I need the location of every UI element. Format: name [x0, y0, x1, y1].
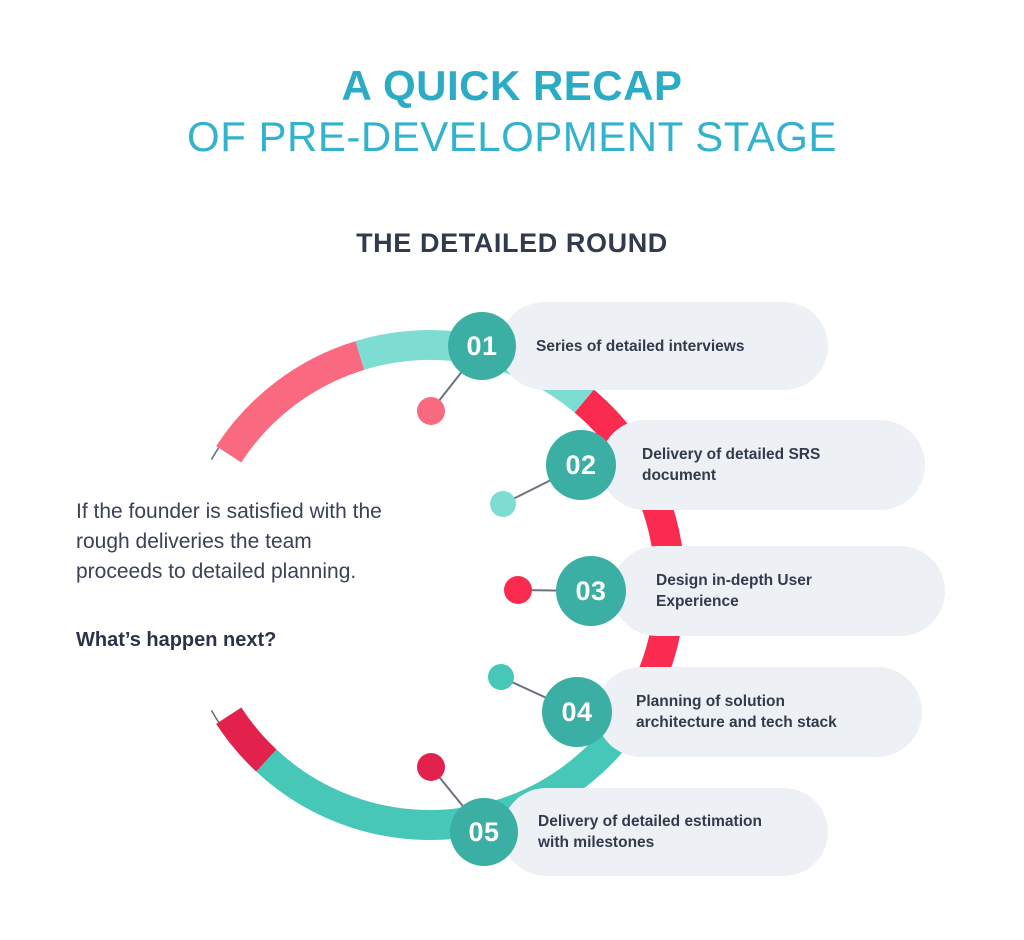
step-card-02[interactable]: Delivery of detailed SRS document	[600, 420, 925, 510]
step-card-04[interactable]: Planning of solution architecture and te…	[596, 667, 922, 757]
step-badge-01[interactable]: 01	[448, 312, 516, 380]
step-card-text-05: Delivery of detailed estimation with mil…	[538, 811, 762, 853]
node-dot-01[interactable]	[417, 397, 445, 425]
title-line-primary: A QUICK RECAP	[0, 62, 1024, 110]
node-dots-layer	[417, 397, 532, 781]
title-line-secondary: OF PRE-DEVELOPMENT STAGE	[0, 110, 1024, 165]
node-dot-05[interactable]	[417, 753, 445, 781]
node-dot-03[interactable]	[504, 576, 532, 604]
step-card-03[interactable]: Design in-depth User Experience	[612, 546, 945, 636]
step-card-05[interactable]: Delivery of detailed estimation with mil…	[502, 788, 828, 876]
step-card-text-03: Design in-depth User Experience	[656, 570, 812, 612]
left-paragraph: If the founder is satisfied with the rou…	[76, 497, 388, 587]
step-badge-03[interactable]: 03	[556, 556, 626, 626]
step-card-text-02: Delivery of detailed SRS document	[642, 444, 820, 486]
page-subtitle: THE DETAILED ROUND	[0, 228, 1024, 259]
step-badge-05[interactable]: 05	[450, 798, 518, 866]
left-text-panel: If the founder is satisfied with the rou…	[76, 497, 388, 652]
node-dot-04[interactable]	[488, 664, 514, 690]
step-card-text-04: Planning of solution architecture and te…	[636, 691, 837, 733]
left-question: What’s happen next?	[76, 629, 388, 652]
arc-segment-crimson	[229, 716, 267, 761]
page-title: A QUICK RECAP OF PRE-DEVELOPMENT STAGE	[0, 62, 1024, 165]
step-badge-02[interactable]: 02	[546, 430, 616, 500]
step-badge-04[interactable]: 04	[542, 677, 612, 747]
step-card-text-01: Series of detailed interviews	[536, 336, 744, 357]
arc-segment-salmon	[229, 355, 360, 454]
node-dot-02[interactable]	[490, 491, 516, 517]
step-card-01[interactable]: Series of detailed interviews	[500, 302, 828, 390]
infographic-canvas: A QUICK RECAP OF PRE-DEVELOPMENT STAGE T…	[0, 0, 1024, 940]
